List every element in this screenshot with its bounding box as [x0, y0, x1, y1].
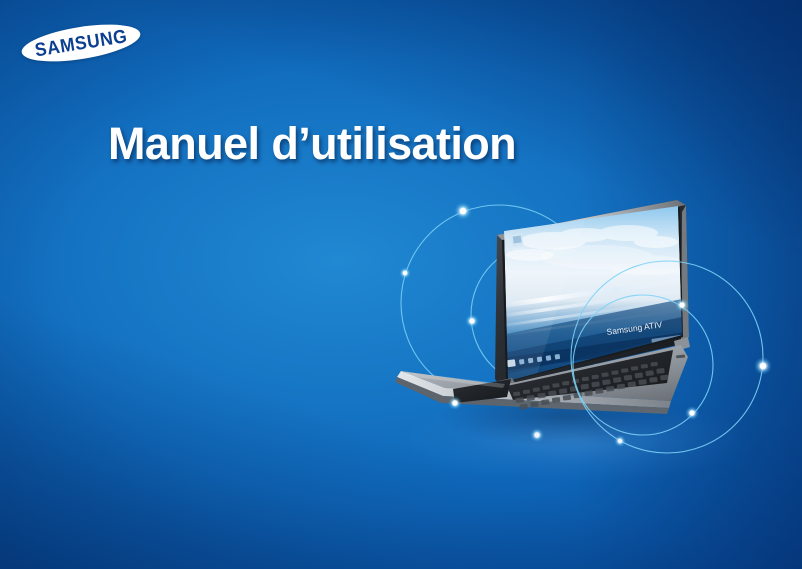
page-title: Manuel d’utilisation: [108, 118, 516, 170]
samsung-logo: SAMSUNG: [21, 27, 141, 59]
glow-dot: [530, 428, 544, 442]
glow-dot: [614, 435, 626, 447]
glow-dot: [399, 267, 411, 279]
glow-dot: [454, 202, 472, 220]
cover-page: SAMSUNG Manuel d’utilisation: [0, 0, 802, 569]
glow-dot: [754, 357, 772, 375]
samsung-logo-wordmark: SAMSUNG: [33, 25, 129, 61]
hero-illustration: Samsung ATIV: [385, 185, 802, 475]
glow-dot: [465, 314, 479, 328]
glow-dot: [685, 406, 699, 420]
glow-dot: [448, 396, 462, 410]
laptop: Samsung ATIV: [395, 200, 697, 447]
glow-dot: [675, 298, 689, 312]
